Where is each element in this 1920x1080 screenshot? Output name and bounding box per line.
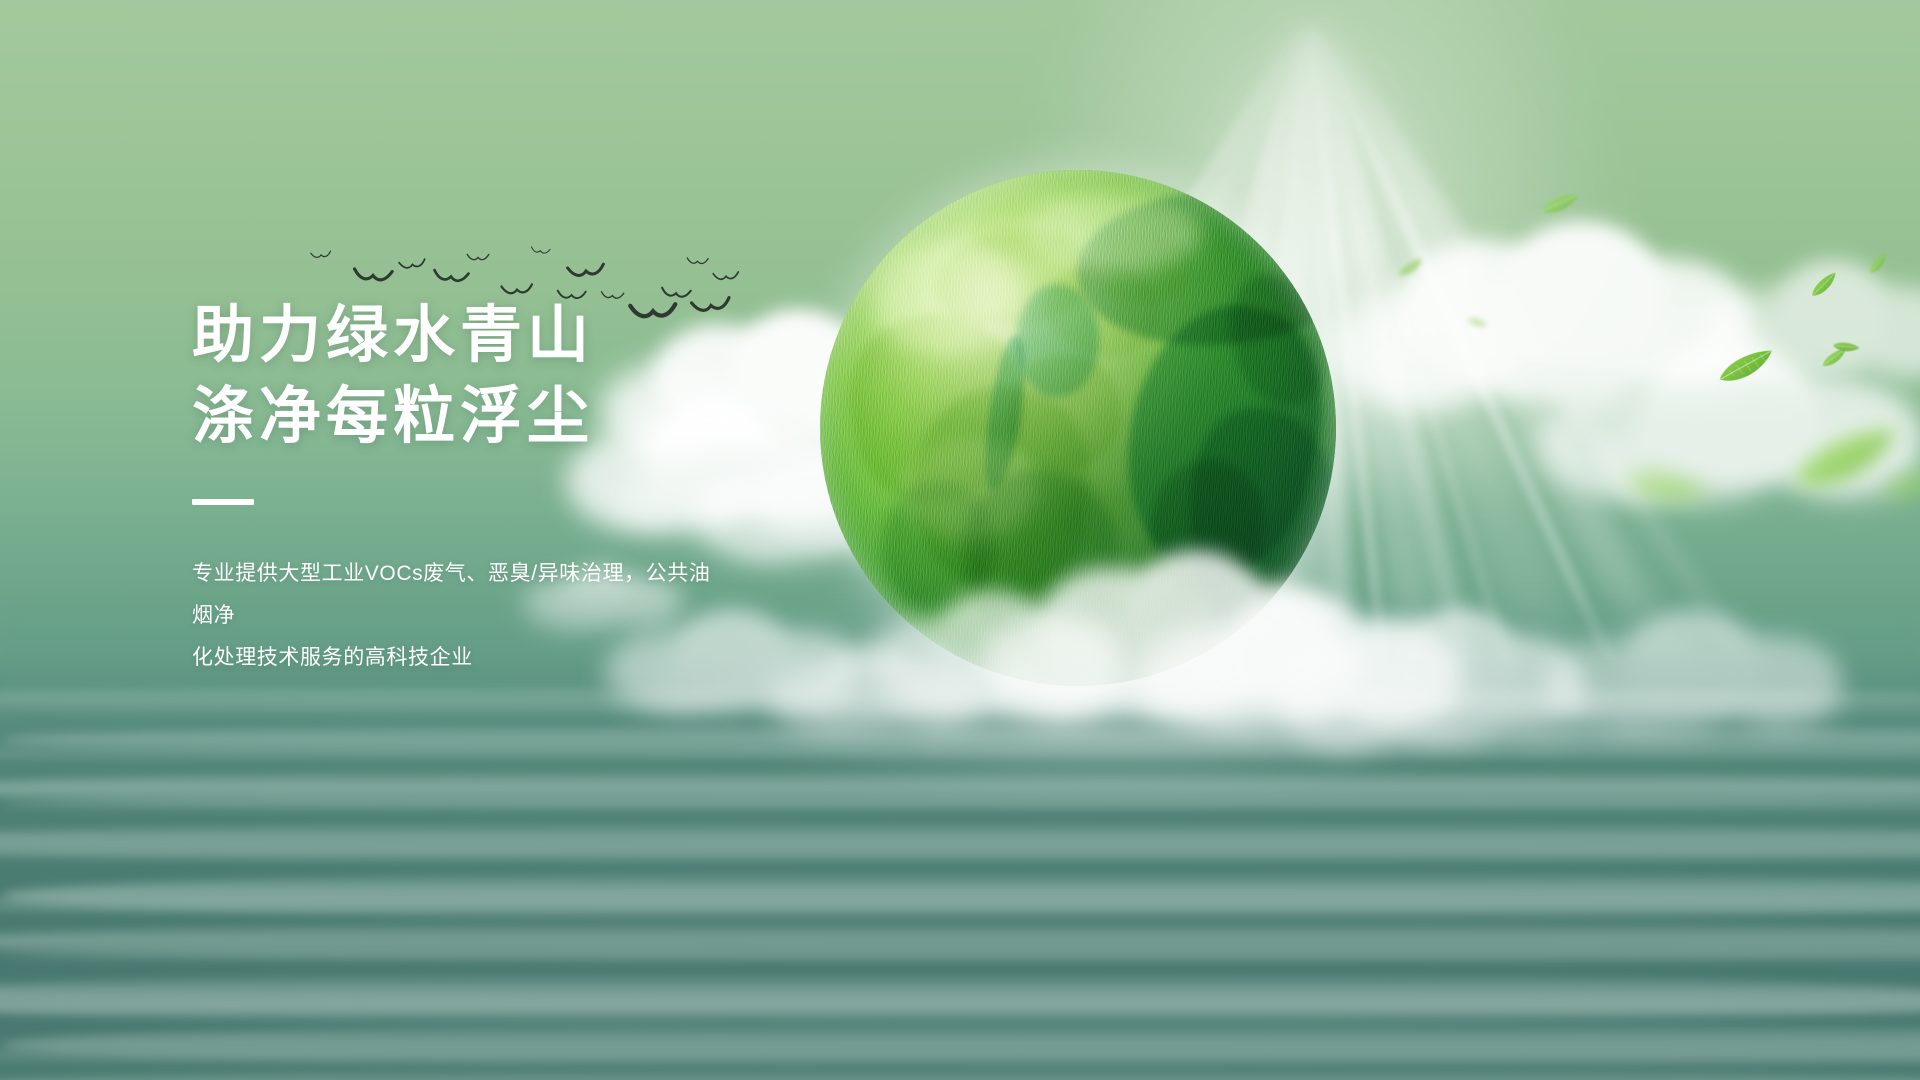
water-ripple bbox=[0, 996, 1920, 1020]
hero-banner: 助力绿水青山 涤净每粒浮尘 专业提供大型工业VOCs废气、恶臭/异味治理，公共油… bbox=[0, 0, 1920, 1080]
water-ripple bbox=[0, 946, 1920, 964]
headline-line-2: 涤净每粒浮尘 bbox=[192, 377, 912, 458]
water-ripple bbox=[0, 845, 1920, 861]
page-title: 助力绿水青山 涤净每粒浮尘 bbox=[192, 296, 912, 457]
hero-description: 专业提供大型工业VOCs废气、恶臭/异味治理，公共油烟净 化处理技术服务的高科技… bbox=[192, 553, 732, 679]
water-ripple bbox=[0, 1067, 1920, 1080]
description-line-2: 化处理技术服务的高科技企业 bbox=[192, 637, 732, 679]
water-ripple bbox=[0, 702, 1920, 716]
water-ripple bbox=[0, 895, 1920, 917]
water-ripple bbox=[0, 1046, 1920, 1066]
headline-line-1: 助力绿水青山 bbox=[192, 296, 912, 377]
water-surface-icon bbox=[0, 660, 1920, 1080]
hero-copy: 助力绿水青山 涤净每粒浮尘 专业提供大型工业VOCs废气、恶臭/异味治理，公共油… bbox=[192, 296, 912, 679]
water-ripple bbox=[0, 794, 1920, 814]
description-line-1: 专业提供大型工业VOCs废气、恶臭/异味治理，公共油烟净 bbox=[192, 553, 732, 637]
water-ripple bbox=[0, 744, 1920, 762]
title-divider bbox=[192, 499, 254, 505]
